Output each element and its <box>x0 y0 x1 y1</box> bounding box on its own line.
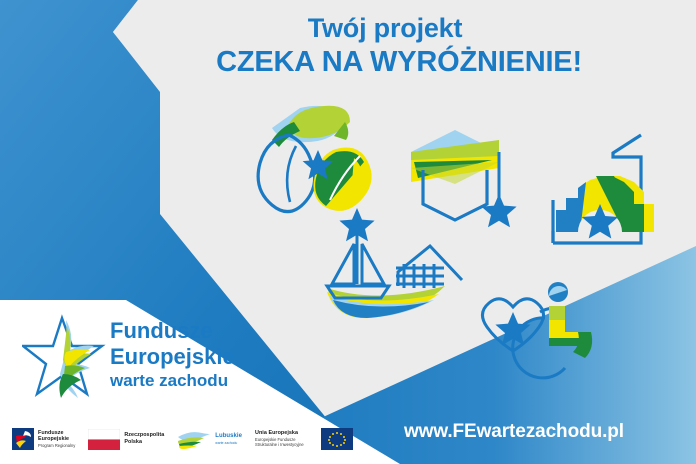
poster: Twój projekt CZEKA NA WYRÓŻNIENIE! Fundu… <box>0 0 696 464</box>
logo-title-1: Fundusze <box>38 430 75 437</box>
polish-flag-icon <box>88 429 120 450</box>
logo-title-2: Polska <box>124 439 164 446</box>
logo-unia-europejska: Unia Europejska Europejskie Fundusze Str… <box>255 425 353 453</box>
logo-subtitle: Program Regionalny <box>38 443 75 448</box>
logo-title-1: Rzeczpospolita <box>124 432 164 439</box>
brand-line-2: Europejskie <box>110 344 235 370</box>
fe-flag-icon <box>12 427 34 451</box>
website-url[interactable]: www.FEwartezachodu.pl <box>404 421 624 443</box>
lubuskie-wave-icon <box>177 428 211 450</box>
logo-title-2: Europejskie <box>38 436 75 443</box>
eu-flag-icon <box>321 428 353 450</box>
headline: Twój projekt CZEKA NA WYRÓŻNIENIE! <box>150 14 620 78</box>
logo-label: Lubuskie warte zachodu <box>215 433 242 445</box>
brand-line-1: Fundusze <box>110 318 235 344</box>
brand-logo: Fundusze Europejskie warte zachodu <box>22 312 272 404</box>
footer-logo-strip: Fundusze Europejskie Program Regionalny … <box>12 424 353 454</box>
brand-logo-text: Fundusze Europejskie warte zachodu <box>110 318 235 393</box>
brand-line-3: warte zachodu <box>110 370 235 392</box>
logo-label: Rzeczpospolita Polska <box>124 432 164 446</box>
logo-label: Fundusze Europejskie Program Regionalny <box>38 430 75 449</box>
logo-fundusze-europejskie: Fundusze Europejskie Program Regionalny <box>12 425 75 453</box>
fe-star-icon <box>22 314 108 402</box>
logo-lubuskie: Lubuskie warte zachodu <box>177 425 242 453</box>
logo-subtitle: warte zachodu <box>215 441 242 445</box>
headline-line-2: CZEKA NA WYRÓŻNIENIE! <box>150 47 620 78</box>
headline-line-1: Twój projekt <box>150 14 620 43</box>
logo-title-1: Unia Europejska <box>255 430 317 437</box>
logo-rzeczpospolita-polska: Rzeczpospolita Polska <box>88 425 164 453</box>
logo-label: Unia Europejska Europejskie Fundusze Str… <box>255 430 317 447</box>
logo-title-1: Lubuskie <box>215 433 242 441</box>
logo-subtitle: Europejskie Fundusze Strukturalne i Inwe… <box>255 437 317 448</box>
